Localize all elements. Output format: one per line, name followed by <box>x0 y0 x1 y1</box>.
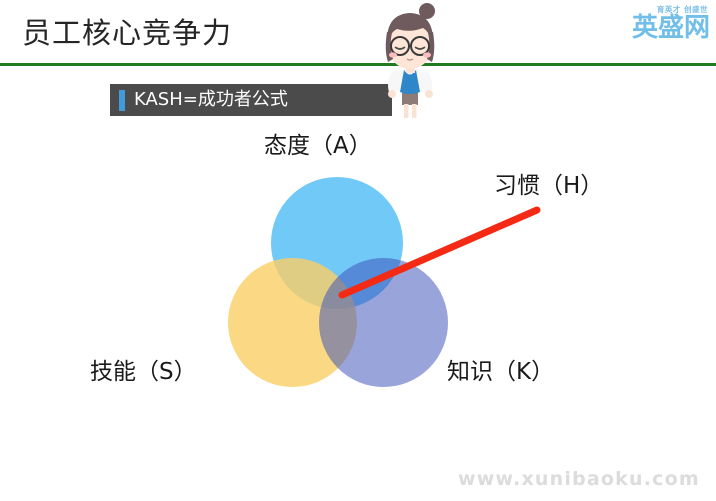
slide-canvas: 员工核心竞争力 KASH=成功者公式 育英才 创盛世 英盛网 <box>0 0 716 501</box>
mascot-leg-left <box>404 104 409 118</box>
mascot-blush-right <box>423 52 431 57</box>
subtitle-banner: KASH=成功者公式 <box>110 84 392 116</box>
watermark-text: www.xunibaoku.com <box>458 468 700 490</box>
mascot-hand-left <box>388 90 396 98</box>
mascot-hair-bun <box>419 3 435 19</box>
venn-label-attitude: 态度（A） <box>264 131 372 161</box>
title-divider <box>0 63 716 66</box>
venn-label-habit: 习惯（H） <box>494 171 603 201</box>
subtitle-text: KASH=成功者公式 <box>134 90 288 110</box>
mascot-hand-right <box>425 90 433 98</box>
brand-logo: 育英才 创盛世 英盛网 <box>632 6 710 41</box>
venn-diagram <box>200 160 480 400</box>
mascot-leg-right <box>412 104 417 118</box>
mascot-blush-left <box>389 52 397 57</box>
logo-name: 英盛网 <box>632 15 710 41</box>
page-title: 员工核心竞争力 <box>22 14 232 52</box>
venn-circle-knowledge <box>319 258 448 387</box>
accent-bar-icon <box>119 90 125 111</box>
venn-label-knowledge: 知识（K） <box>447 357 554 387</box>
venn-label-skill: 技能（S） <box>90 357 197 387</box>
mascot-illustration <box>368 2 452 120</box>
